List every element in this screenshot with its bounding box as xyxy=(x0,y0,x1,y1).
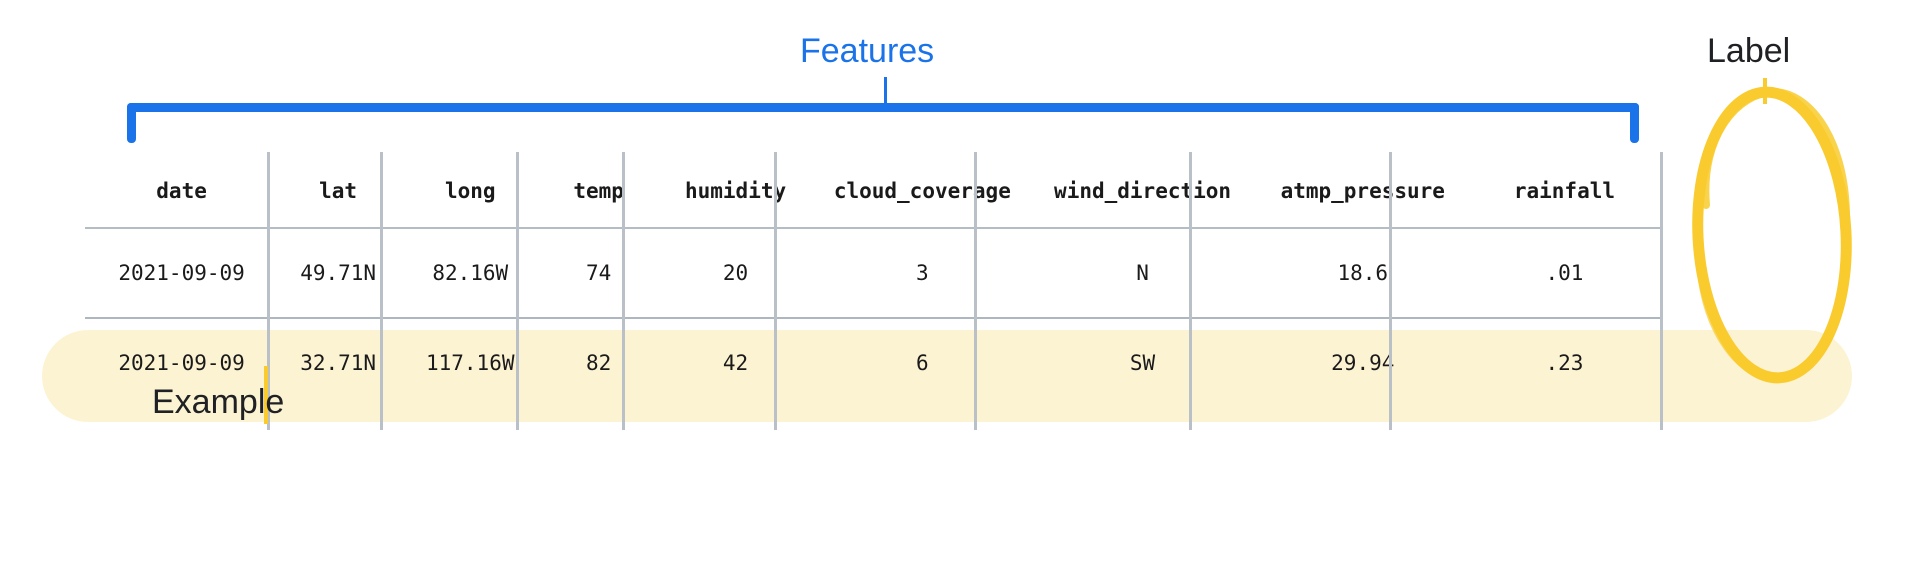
column-divider xyxy=(1189,152,1192,430)
cell-rainfall: .01 xyxy=(1469,228,1660,318)
features-annotation-label: Features xyxy=(800,32,934,71)
features-bracket-left xyxy=(127,103,136,143)
column-header-long: long xyxy=(398,155,542,228)
column-divider xyxy=(380,152,383,430)
features-bracket xyxy=(127,103,1639,143)
cell-temp: 74 xyxy=(542,228,655,318)
features-leader-line xyxy=(884,77,887,107)
table-header-row: date lat long temp humidity cloud_covera… xyxy=(85,155,1660,228)
example-annotation-label: Example xyxy=(152,383,284,422)
column-divider xyxy=(622,152,625,430)
cell-rainfall: .23 xyxy=(1469,318,1660,407)
cell-wind-direction: SW xyxy=(1028,318,1256,407)
column-divider xyxy=(1660,152,1663,430)
cell-cloud-coverage: 6 xyxy=(816,318,1028,407)
cell-cloud-coverage: 3 xyxy=(816,228,1028,318)
column-header-humidity: humidity xyxy=(655,155,816,228)
column-header-rainfall: rainfall xyxy=(1469,155,1660,228)
features-bracket-top xyxy=(127,103,1639,112)
cell-date: 2021-09-09 xyxy=(85,228,278,318)
column-divider xyxy=(974,152,977,430)
diagram-canvas: date lat long temp humidity cloud_covera… xyxy=(0,0,1920,576)
cell-atmp-pressure: 29.94 xyxy=(1257,318,1469,407)
cell-temp: 82 xyxy=(542,318,655,407)
column-divider xyxy=(516,152,519,430)
label-leader-line xyxy=(1763,78,1767,104)
cell-humidity: 42 xyxy=(655,318,816,407)
column-header-temp: temp xyxy=(542,155,655,228)
cell-long: 117.16W xyxy=(398,318,542,407)
table-row: 2021-09-09 32.71N 117.16W 82 42 6 SW 29.… xyxy=(85,318,1660,407)
column-header-wind-direction: wind_direction xyxy=(1028,155,1256,228)
column-header-date: date xyxy=(85,155,278,228)
dataset-table-wrapper: date lat long temp humidity cloud_covera… xyxy=(0,0,1920,576)
table-row: 2021-09-09 49.71N 82.16W 74 20 3 N 18.6 … xyxy=(85,228,1660,318)
label-ellipse-marker xyxy=(1688,85,1856,385)
dataset-table: date lat long temp humidity cloud_covera… xyxy=(85,155,1660,407)
column-header-cloud-coverage: cloud_coverage xyxy=(816,155,1028,228)
cell-atmp-pressure: 18.6 xyxy=(1257,228,1469,318)
label-annotation-label: Label xyxy=(1707,32,1790,71)
features-bracket-right xyxy=(1630,103,1639,143)
column-divider xyxy=(1389,152,1392,430)
cell-humidity: 20 xyxy=(655,228,816,318)
column-header-atmp-pressure: atmp_pressure xyxy=(1257,155,1469,228)
column-divider xyxy=(774,152,777,430)
cell-long: 82.16W xyxy=(398,228,542,318)
cell-wind-direction: N xyxy=(1028,228,1256,318)
